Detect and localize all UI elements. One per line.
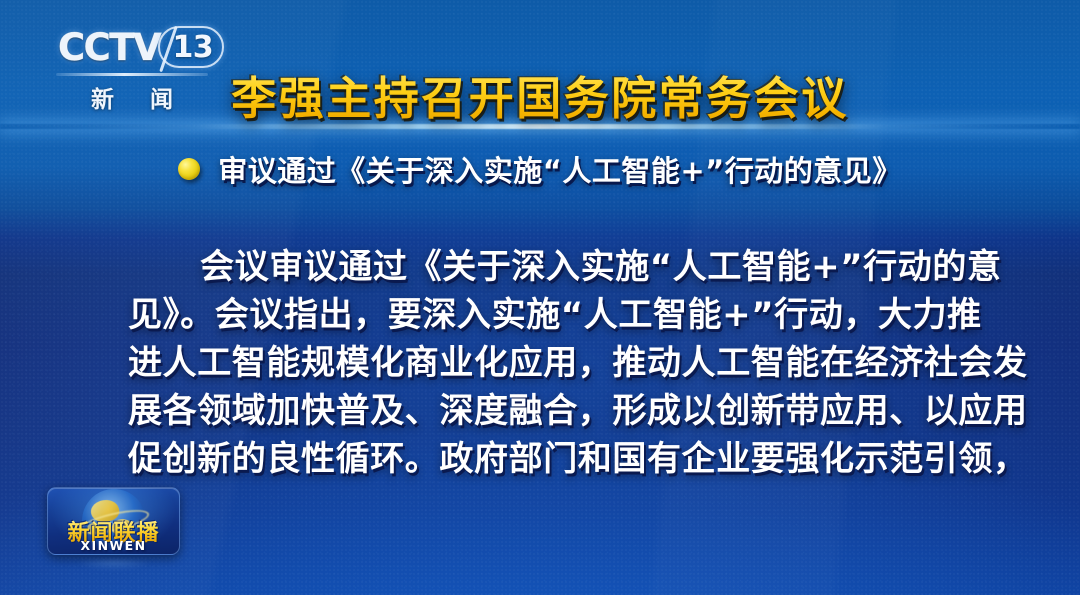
body-line: 会议审议通过《关于深入实施“人工智能+”行动的意	[128, 243, 956, 291]
cctv-channel-number: 13	[172, 30, 213, 65]
subtitle-row: 审议通过《关于深入实施“人工智能+”行动的意见》	[0, 148, 1080, 190]
body-line: 进人工智能规模化商业化应用，推动人工智能在经济社会发	[128, 339, 956, 387]
bullet-dot-icon	[178, 158, 200, 180]
news-broadcast-frame: CCTV 13 新 闻 李强主持召开国务院常务会议 审议通过《关于深入实施“人工…	[0, 0, 1080, 595]
xinwen-lianbo-logo: 新闻联播 XINWEN LIANBO	[47, 487, 180, 555]
body-line: 展各领域加快普及、深度融合，形成以创新带应用、以应用	[128, 387, 956, 435]
headline-title: 李强主持召开国务院常务会议	[0, 62, 1080, 127]
body-line: 见》。会议指出，要深入实施“人工智能+”行动，大力推	[128, 291, 956, 339]
badge-reflection	[60, 560, 168, 574]
program-name-pinyin: XINWEN LIANBO	[48, 538, 179, 555]
body-copy: 会议审议通过《关于深入实施“人工智能+”行动的意 见》。会议指出，要深入实施“人…	[128, 243, 956, 483]
subtitle-text: 审议通过《关于深入实施“人工智能+”行动的意见》	[218, 148, 901, 190]
body-line: 促创新的良性循环。政府部门和国有企业要强化示范引领，	[128, 435, 956, 483]
